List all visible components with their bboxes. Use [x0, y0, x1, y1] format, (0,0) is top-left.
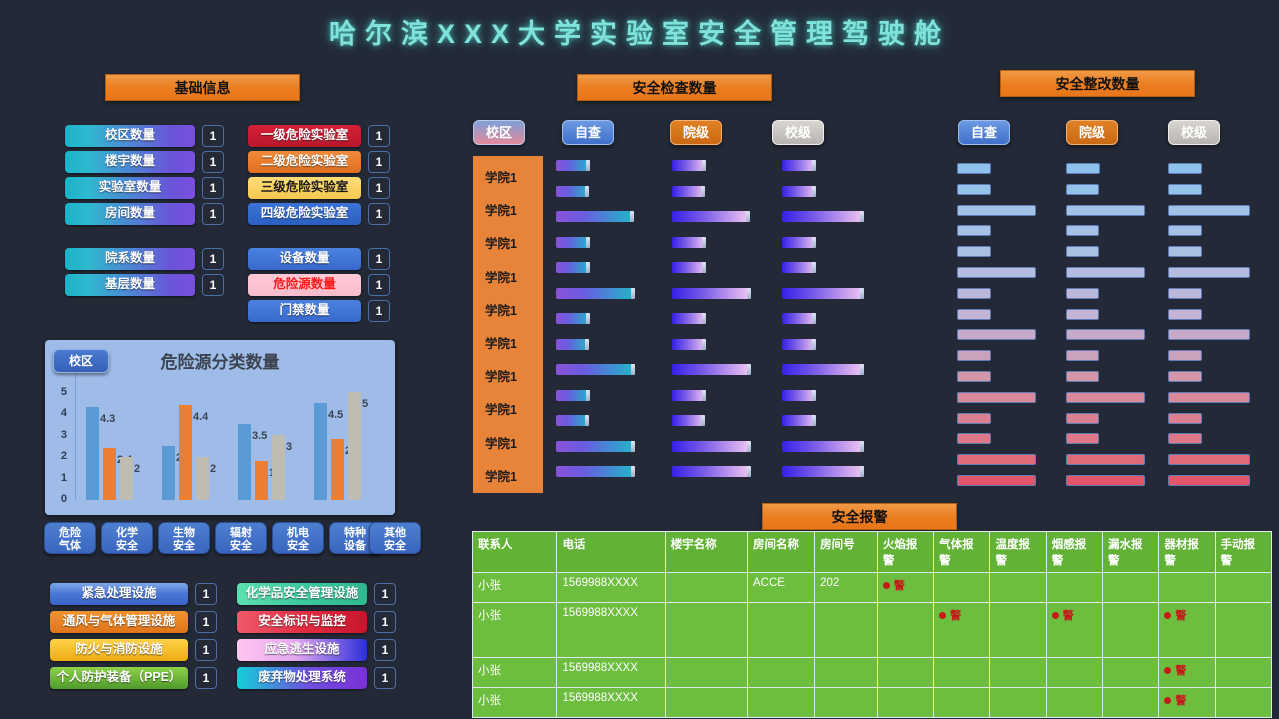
rectify-bar-r11-c0: [957, 392, 1036, 403]
rectify-col-self[interactable]: 自查: [958, 120, 1010, 145]
rectify-bar-r8-c0: [957, 329, 1036, 340]
rectify-bar-r3-c1: [1066, 225, 1099, 236]
chart-bar-g0-s0: [86, 407, 99, 500]
rectify-bar-r13-c0: [957, 433, 991, 444]
metric-row: 废弃物处理系统1: [237, 667, 396, 689]
metric-row: 三级危险实验室1: [248, 177, 390, 199]
metric-row: 校区数量1: [65, 125, 224, 147]
inspect-bar-r5-c0: [556, 288, 635, 299]
basic-info-banner: 基础信息: [105, 74, 300, 101]
college-item-5[interactable]: 学院1: [473, 333, 517, 352]
chart-bar-g3-s1: [331, 439, 344, 500]
alarm-cell-leak: [1103, 688, 1159, 718]
rectify-bar-r4-c1: [1066, 246, 1099, 257]
inspect-bar-r1-c1: [672, 186, 705, 197]
metric-count-bl1-0: 1: [202, 125, 224, 147]
alarm-header-11: 手动报警: [1215, 532, 1271, 573]
inspect-bar-r0-c1: [672, 160, 706, 171]
rectify-col-school[interactable]: 校级: [1168, 120, 1220, 145]
inspect-banner: 安全检查数量: [577, 74, 772, 101]
rectify-bar-r15-c1: [1066, 475, 1145, 486]
metric-count-facl-1: 1: [195, 611, 217, 633]
rectify-bar-r10-c2: [1168, 371, 1202, 382]
metric-row: 化学品安全管理设施1: [237, 583, 396, 605]
chart-bar-value-g3-s0: 4.5: [328, 409, 343, 421]
metric-count-br1-3: 1: [368, 203, 390, 225]
inspect-bar-r0-c0: [556, 160, 590, 171]
metric-row: 实验室数量1: [65, 177, 224, 199]
chart-plot-area: 4.32.422.54.423.51.834.52.85: [75, 370, 387, 500]
metric-label-facr-0[interactable]: 化学品安全管理设施: [237, 583, 367, 605]
inspect-campus-button[interactable]: 校区: [473, 120, 525, 145]
chart-ytick-3: 3: [55, 429, 67, 441]
metric-row: 危险源数量1: [248, 274, 390, 296]
alarm-cell-gas: 警: [934, 603, 990, 658]
rectify-bar-r7-c0: [957, 309, 991, 320]
inspect-bar-r3-c0: [556, 237, 590, 248]
chart-campus-tag[interactable]: 校区: [53, 349, 109, 373]
chart-bar-g0-s2: [120, 457, 133, 500]
alarm-cell-room_no: [815, 603, 878, 658]
metric-row: 个人防护装备（PPE）1: [50, 667, 217, 689]
inspect-bar-r8-c0: [556, 364, 635, 375]
alarm-header-6: 气体报警: [934, 532, 990, 573]
alarm-banner: 安全报警: [762, 503, 957, 530]
alarm-cell-smoke: [1046, 573, 1102, 603]
college-item-9[interactable]: 学院1: [473, 466, 517, 485]
metric-row: 一级危险实验室1: [248, 125, 390, 147]
chart-bar-g2-s1: [255, 461, 268, 500]
inspect-col-school[interactable]: 校级: [772, 120, 824, 145]
alarm-cell-equip: 警: [1159, 603, 1215, 658]
rectify-bar-r9-c2: [1168, 350, 1202, 361]
metric-label-facl-1[interactable]: 通风与气体管理设施: [50, 611, 188, 633]
inspect-bar-r6-c1: [672, 313, 706, 324]
alarm-cell-phone: 1569988XXXX: [557, 603, 665, 658]
metric-label-br2-0[interactable]: 设备数量: [248, 248, 361, 270]
rectify-bar-r0-c2: [1168, 163, 1202, 174]
metric-row: 防火与消防设施1: [50, 639, 217, 661]
metric-label-bl1-3[interactable]: 房间数量: [65, 203, 195, 225]
inspect-col-dept[interactable]: 院级: [670, 120, 722, 145]
alarm-header-5: 火焰报警: [877, 532, 933, 573]
chart-bar-value-g1-s1: 4.4: [193, 411, 208, 423]
rectify-bar-r6-c0: [957, 288, 991, 299]
rectify-bar-r1-c2: [1168, 184, 1202, 195]
metric-row: 通风与气体管理设施1: [50, 611, 217, 633]
alarm-cell-flame: 警: [877, 573, 933, 603]
alarm-header-10: 器材报警: [1159, 532, 1215, 573]
inspect-bar-r10-c1: [672, 415, 705, 426]
inspect-bar-r6-c0: [556, 313, 590, 324]
college-item-3[interactable]: 学院1: [473, 267, 517, 286]
metric-count-facl-3: 1: [195, 667, 217, 689]
inspect-bar-r1-c2: [782, 186, 816, 197]
rectify-bar-r8-c2: [1168, 329, 1250, 340]
metric-label-br1-2[interactable]: 三级危险实验室: [248, 177, 361, 199]
alarm-header-3: 房间名称: [747, 532, 814, 573]
alarm-cell-leak: [1103, 603, 1159, 658]
chart-category-4[interactable]: 机电安全: [272, 522, 324, 554]
metric-count-facr-3: 1: [374, 667, 396, 689]
rectify-bar-r9-c1: [1066, 350, 1099, 361]
chart-ytick-2: 4: [55, 407, 67, 419]
alarm-cell-room_no: [815, 688, 878, 718]
rectify-bar-r5-c1: [1066, 267, 1145, 278]
rectify-bar-r1-c0: [957, 184, 991, 195]
rectify-bar-r14-c1: [1066, 454, 1145, 465]
metric-count-bl2-1: 1: [202, 274, 224, 296]
alarm-cell-room_no: 202: [815, 573, 878, 603]
metric-row: 院系数量1: [65, 248, 224, 270]
inspect-bar-r5-c1: [672, 288, 751, 299]
chart-bar-value-g0-s0: 4.3: [100, 413, 115, 425]
metric-label-br2-2[interactable]: 门禁数量: [248, 300, 361, 322]
alarm-cell-building: [665, 658, 747, 688]
rectify-bar-r5-c0: [957, 267, 1036, 278]
metric-count-bl1-2: 1: [202, 177, 224, 199]
chart-category-1[interactable]: 化学安全: [101, 522, 153, 554]
metric-label-facr-3[interactable]: 废弃物处理系统: [237, 667, 367, 689]
metric-row: 楼宇数量1: [65, 151, 224, 173]
inspect-bar-r9-c2: [782, 390, 816, 401]
alarm-cell-equip: 警: [1159, 688, 1215, 718]
rectify-bar-r6-c2: [1168, 288, 1202, 299]
chart-bar-g3-s0: [314, 403, 327, 501]
rectify-bar-r2-c0: [957, 205, 1036, 216]
rectify-bar-r10-c0: [957, 371, 991, 382]
alarm-header-7: 温度报警: [990, 532, 1046, 573]
inspect-bar-r7-c0: [556, 339, 589, 350]
chart-ytick-5: 1: [55, 472, 67, 484]
inspect-bar-r2-c0: [556, 211, 634, 222]
rectify-bar-r13-c1: [1066, 433, 1099, 444]
alarm-cell-temp: [990, 573, 1046, 603]
rectify-bar-r2-c2: [1168, 205, 1250, 216]
chart-bar-g1-s0: [162, 446, 175, 500]
alarm-cell-phone: 1569988XXXX: [557, 658, 665, 688]
alarm-cell-contact: 小张: [473, 573, 557, 603]
rectify-bar-r1-c1: [1066, 184, 1099, 195]
rectify-bar-r7-c1: [1066, 309, 1099, 320]
rectify-bar-r5-c2: [1168, 267, 1250, 278]
metric-row: 紧急处理设施1: [50, 583, 217, 605]
table-row[interactable]: 小张1569988XXXX警警警: [473, 603, 1272, 658]
inspect-bar-r4-c2: [782, 262, 816, 273]
rectify-bar-r12-c0: [957, 413, 991, 424]
metric-count-facr-2: 1: [374, 639, 396, 661]
rectify-bar-r14-c2: [1168, 454, 1250, 465]
alarm-header-2: 楼宇名称: [665, 532, 747, 573]
rectify-bar-r12-c1: [1066, 413, 1099, 424]
rectify-bar-r0-c1: [1066, 163, 1100, 174]
alarm-cell-manual: [1215, 658, 1271, 688]
metric-label-bl1-2[interactable]: 实验室数量: [65, 177, 195, 199]
table-row[interactable]: 小张1569988XXXX警: [473, 658, 1272, 688]
inspect-bar-r11-c0: [556, 441, 635, 452]
metric-count-br1-1: 1: [368, 151, 390, 173]
page-title: 哈尔滨XXX大学实验室安全管理驾驶舱: [0, 12, 1279, 51]
rectify-bar-r3-c0: [957, 225, 991, 236]
metric-label-facl-3[interactable]: 个人防护装备（PPE）: [50, 667, 188, 689]
rectify-bar-r10-c1: [1066, 371, 1099, 382]
alarm-cell-gas: [934, 688, 990, 718]
inspect-bar-r4-c0: [556, 262, 590, 273]
inspect-bar-r1-c0: [556, 186, 589, 197]
metric-label-bl1-0[interactable]: 校区数量: [65, 125, 195, 147]
alarm-header-0: 联系人: [473, 532, 557, 573]
inspect-bar-r9-c0: [556, 390, 590, 401]
metric-row: 安全标识与监控1: [237, 611, 396, 633]
rectify-bar-r7-c2: [1168, 309, 1202, 320]
alarm-cell-smoke: [1046, 688, 1102, 718]
metric-count-facr-0: 1: [374, 583, 396, 605]
metric-count-facl-2: 1: [195, 639, 217, 661]
alarm-cell-temp: [990, 688, 1046, 718]
alarm-cell-manual: [1215, 688, 1271, 718]
inspect-bar-r0-c2: [782, 160, 816, 171]
alarm-cell-contact: 小张: [473, 658, 557, 688]
inspect-col-self[interactable]: 自查: [562, 120, 614, 145]
college-item-0[interactable]: 学院1: [473, 167, 517, 186]
chart-bar-value-g2-s0: 3.5: [252, 430, 267, 442]
college-item-2[interactable]: 学院1: [473, 233, 517, 252]
metric-label-facr-2[interactable]: 应急逃生设施: [237, 639, 367, 661]
metric-row: 应急逃生设施1: [237, 639, 396, 661]
alarm-cell-leak: [1103, 573, 1159, 603]
rectify-bar-r6-c1: [1066, 288, 1099, 299]
alarm-table-header: 联系人电话楼宇名称房间名称房间号火焰报警气体报警温度报警烟感报警漏水报警器材报警…: [473, 532, 1272, 573]
alarm-cell-contact: 小张: [473, 603, 557, 658]
inspect-bar-r12-c1: [672, 466, 751, 477]
rectify-bar-r15-c2: [1168, 475, 1250, 486]
inspect-bar-r5-c2: [782, 288, 864, 299]
rectify-bar-r0-c0: [957, 163, 991, 174]
alarm-header-9: 漏水报警: [1103, 532, 1159, 573]
rectify-bar-r8-c1: [1066, 329, 1145, 340]
metric-row: 四级危险实验室1: [248, 203, 390, 225]
rectify-banner: 安全整改数量: [1000, 70, 1195, 97]
alarm-cell-manual: [1215, 603, 1271, 658]
college-item-4[interactable]: 学院1: [473, 300, 517, 319]
alarm-cell-smoke: 警: [1046, 603, 1102, 658]
chart-bar-g1-s1: [179, 405, 192, 500]
college-item-7[interactable]: 学院1: [473, 399, 517, 418]
alarm-cell-room_name: ACCE: [747, 573, 814, 603]
alarm-cell-equip: 警: [1159, 658, 1215, 688]
college-item-8[interactable]: 学院1: [473, 433, 517, 452]
inspect-college-list: 学院1学院1学院1学院1学院1学院1学院1学院1学院1学院1: [473, 156, 543, 493]
chart-bar-g3-s2: [348, 392, 361, 500]
inspect-bar-r9-c1: [672, 390, 706, 401]
rectify-bar-r4-c0: [957, 246, 991, 257]
metric-count-br1-0: 1: [368, 125, 390, 147]
college-item-1[interactable]: 学院1: [473, 200, 517, 219]
alarm-cell-flame: [877, 688, 933, 718]
metric-label-br2-1[interactable]: 危险源数量: [248, 274, 361, 296]
metric-label-facr-1[interactable]: 安全标识与监控: [237, 611, 367, 633]
metric-label-bl1-1[interactable]: 楼宇数量: [65, 151, 195, 173]
chart-bar-g1-s2: [196, 457, 209, 500]
chart-category-6[interactable]: 其他安全: [369, 522, 421, 554]
metric-count-facl-0: 1: [195, 583, 217, 605]
alarm-table: 联系人电话楼宇名称房间名称房间号火焰报警气体报警温度报警烟感报警漏水报警器材报警…: [472, 531, 1272, 718]
metric-count-bl2-0: 1: [202, 248, 224, 270]
alarm-header-8: 烟感报警: [1046, 532, 1102, 573]
inspect-bar-r11-c1: [672, 441, 751, 452]
inspect-bar-r2-c1: [672, 211, 750, 222]
rectify-bar-r15-c0: [957, 475, 1036, 486]
metric-row: 基层数量1: [65, 274, 224, 296]
inspect-bar-r2-c2: [782, 211, 864, 222]
inspect-bar-r8-c2: [782, 364, 864, 375]
alarm-header-1: 电话: [557, 532, 665, 573]
alarm-cell-room_no: [815, 658, 878, 688]
metric-count-br2-0: 1: [368, 248, 390, 270]
alarm-cell-building: [665, 573, 747, 603]
metric-count-br2-1: 1: [368, 274, 390, 296]
rectify-bar-r4-c2: [1168, 246, 1202, 257]
alarm-cell-room_name: [747, 603, 814, 658]
rectify-bar-r13-c2: [1168, 433, 1202, 444]
metric-label-br1-3[interactable]: 四级危险实验室: [248, 203, 361, 225]
metric-count-bl1-3: 1: [202, 203, 224, 225]
alarm-cell-gas: [934, 658, 990, 688]
chart-ytick-6: 0: [55, 493, 67, 505]
metric-count-br2-2: 1: [368, 300, 390, 322]
alarm-cell-room_name: [747, 688, 814, 718]
alarm-cell-gas: [934, 573, 990, 603]
alarm-cell-leak: [1103, 658, 1159, 688]
alarm-cell-contact: 小张: [473, 688, 557, 718]
metric-row: 设备数量1: [248, 248, 390, 270]
table-row[interactable]: 小张1569988XXXX警: [473, 688, 1272, 718]
rectify-bar-r11-c1: [1066, 392, 1145, 403]
alarm-cell-flame: [877, 603, 933, 658]
metric-label-bl2-0[interactable]: 院系数量: [65, 248, 195, 270]
alarm-header-4: 房间号: [815, 532, 878, 573]
metric-row: 门禁数量1: [248, 300, 390, 322]
inspect-bar-r4-c1: [672, 262, 706, 273]
chart-bar-g2-s0: [238, 424, 251, 500]
rectify-bar-r12-c2: [1168, 413, 1202, 424]
alarm-cell-temp: [990, 603, 1046, 658]
college-item-6[interactable]: 学院1: [473, 366, 517, 385]
metric-label-br1-1[interactable]: 二级危险实验室: [248, 151, 361, 173]
rectify-bar-r11-c2: [1168, 392, 1250, 403]
alarm-cell-building: [665, 688, 747, 718]
chart-category-0[interactable]: 危险气体: [44, 522, 96, 554]
rectify-bar-r2-c1: [1066, 205, 1145, 216]
metric-row: 房间数量1: [65, 203, 224, 225]
metric-row: 二级危险实验室1: [248, 151, 390, 173]
alarm-cell-phone: 1569988XXXX: [557, 688, 665, 718]
inspect-bar-r10-c0: [556, 415, 589, 426]
inspect-bar-r3-c1: [672, 237, 706, 248]
alarm-cell-phone: 1569988XXXX: [557, 573, 665, 603]
metric-label-br1-0[interactable]: 一级危险实验室: [248, 125, 361, 147]
chart-ytick-4: 2: [55, 450, 67, 462]
metric-count-br1-2: 1: [368, 177, 390, 199]
rectify-bar-r9-c0: [957, 350, 991, 361]
alarm-cell-manual: [1215, 573, 1271, 603]
chart-bar-g2-s2: [272, 435, 285, 500]
chart-ytick-1: 5: [55, 386, 67, 398]
rectify-bar-r3-c2: [1168, 225, 1202, 236]
alarm-cell-building: [665, 603, 747, 658]
chart-category-2[interactable]: 生物安全: [158, 522, 210, 554]
rectify-col-dept[interactable]: 院级: [1066, 120, 1118, 145]
chart-bar-g0-s1: [103, 448, 116, 500]
chart-category-3[interactable]: 辐射安全: [215, 522, 267, 554]
metric-count-facr-1: 1: [374, 611, 396, 633]
inspect-bar-r3-c2: [782, 237, 816, 248]
inspect-bar-r11-c2: [782, 441, 864, 452]
inspect-bar-r12-c2: [782, 466, 864, 477]
chart-bar-value-g3-s2: 5: [362, 398, 368, 410]
chart-bar-value-g1-s2: 2: [210, 463, 216, 475]
chart-bar-value-g2-s2: 3: [286, 441, 292, 453]
rectify-bar-r14-c0: [957, 454, 1036, 465]
alarm-cell-room_name: [747, 658, 814, 688]
inspect-bar-r12-c0: [556, 466, 635, 477]
table-row[interactable]: 小张1569988XXXXACCE202警: [473, 573, 1272, 603]
alarm-cell-flame: [877, 658, 933, 688]
alarm-cell-temp: [990, 658, 1046, 688]
inspect-bar-r8-c1: [672, 364, 751, 375]
inspect-bar-r10-c2: [782, 415, 816, 426]
alarm-cell-smoke: [1046, 658, 1102, 688]
chart-bar-value-g0-s2: 2: [134, 463, 140, 475]
metric-label-facl-0[interactable]: 紧急处理设施: [50, 583, 188, 605]
metric-label-facl-2[interactable]: 防火与消防设施: [50, 639, 188, 661]
metric-count-bl1-1: 1: [202, 151, 224, 173]
metric-label-bl2-1[interactable]: 基层数量: [65, 274, 195, 296]
inspect-bar-r6-c2: [782, 313, 816, 324]
inspect-bar-r7-c2: [782, 339, 816, 350]
alarm-cell-equip: [1159, 573, 1215, 603]
inspect-bar-r7-c1: [672, 339, 706, 350]
